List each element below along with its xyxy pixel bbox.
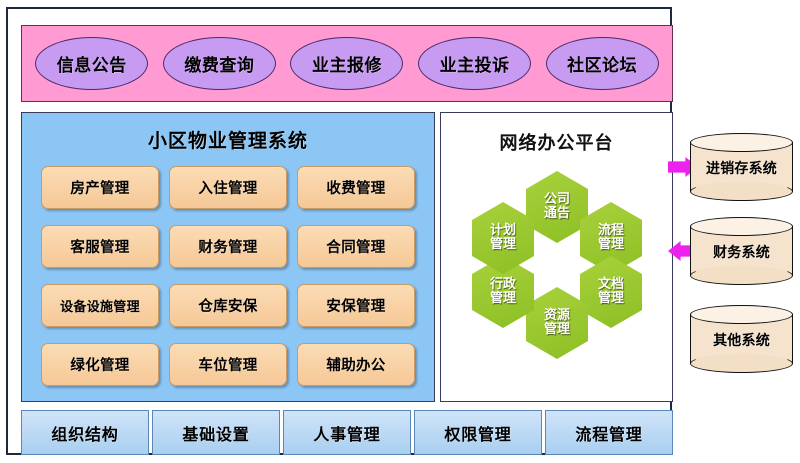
foundation-item-basic-settings[interactable]: 基础设置 (152, 410, 280, 455)
portal-item-community-forum[interactable]: 社区论坛 (546, 37, 659, 90)
external-system-finance[interactable]: 财务系统 (690, 217, 793, 285)
portal-item-label: 信息公告 (57, 51, 127, 76)
office-platform-panel: 网络办公平台 公司 通告 流程 管理 文档 管理 资 (440, 112, 673, 402)
hexagon-company-announcement[interactable]: 公司 通告 (526, 171, 588, 243)
diagram-canvas: 信息公告 缴费查询 业主报修 业主投诉 社区论坛 小区物业管理系统 房产管理 (0, 0, 800, 463)
foundation-item-permission-management[interactable]: 权限管理 (414, 410, 542, 455)
hexagon-line-1: 流程 (598, 224, 624, 238)
hexagon-plan-management[interactable]: 计划 管理 (472, 202, 534, 274)
cylinder-bottom (690, 182, 793, 201)
foundation-item-hr-management[interactable]: 人事管理 (283, 410, 411, 455)
cylinder-top (690, 133, 793, 152)
module-button-equipment-facility[interactable]: 设备设施管理 (41, 284, 159, 327)
external-system-inventory[interactable]: 进销存系统 (690, 133, 793, 201)
module-button-property-assets[interactable]: 房产管理 (41, 166, 159, 209)
module-button-move-in[interactable]: 入住管理 (169, 166, 287, 209)
cylinder-top (690, 305, 793, 324)
hexagon-line-1: 公司 (544, 193, 570, 207)
module-button-customer-service[interactable]: 客服管理 (41, 225, 159, 268)
module-button-contract[interactable]: 合同管理 (297, 225, 415, 268)
hexagon-line-2: 管理 (490, 238, 516, 252)
portal-item-label: 缴费查询 (184, 51, 254, 76)
external-system-label: 其他系统 (690, 327, 793, 353)
hexagon-line-1: 计划 (490, 224, 516, 238)
module-button-parking-space[interactable]: 车位管理 (169, 343, 287, 386)
hexagon-line-2: 通告 (544, 207, 570, 221)
hexagon-cluster: 公司 通告 流程 管理 文档 管理 资源 管理 (441, 159, 674, 377)
external-system-other[interactable]: 其他系统 (690, 305, 793, 373)
module-button-security[interactable]: 安保管理 (297, 284, 415, 327)
portal-item-payment-query[interactable]: 缴费查询 (163, 37, 276, 90)
hexagon-line-1: 资源 (544, 309, 570, 323)
cylinder-top (690, 217, 793, 236)
property-management-panel: 小区物业管理系统 房产管理 入住管理 收费管理 客服管理 财务管理 合同管理 设… (21, 112, 435, 402)
hexagon-line-2: 管理 (544, 323, 570, 337)
hexagon-line-2: 管理 (598, 238, 624, 252)
hexagon-document-management[interactable]: 文档 管理 (580, 256, 642, 328)
hexagon-line-2: 管理 (490, 292, 516, 306)
foundation-item-organization-structure[interactable]: 组织结构 (21, 410, 149, 455)
foundation-bar: 组织结构 基础设置 人事管理 权限管理 流程管理 (21, 410, 673, 455)
module-button-greening[interactable]: 绿化管理 (41, 343, 159, 386)
module-button-warehouse-security[interactable]: 仓库安保 (169, 284, 287, 327)
foundation-item-process-management[interactable]: 流程管理 (545, 410, 673, 455)
cylinder-bottom (690, 266, 793, 285)
external-systems-column: 进销存系统 财务系统 其他系统 (690, 0, 800, 463)
portal-item-label: 业主投诉 (440, 51, 510, 76)
external-system-label: 进销存系统 (690, 155, 793, 181)
portal-item-information-bulletin[interactable]: 信息公告 (35, 37, 148, 90)
module-button-fee-collection[interactable]: 收费管理 (297, 166, 415, 209)
hexagon-line-1: 行政 (490, 278, 516, 292)
hexagon-resource-management[interactable]: 资源 管理 (526, 287, 588, 359)
middle-row: 小区物业管理系统 房产管理 入住管理 收费管理 客服管理 财务管理 合同管理 设… (21, 112, 673, 402)
hexagon-line-1: 文档 (598, 278, 624, 292)
cylinder-bottom (690, 354, 793, 373)
hexagon-line-2: 管理 (598, 292, 624, 306)
portal-item-label: 社区论坛 (567, 51, 637, 76)
portal-banner: 信息公告 缴费查询 业主报修 业主投诉 社区论坛 (21, 25, 673, 102)
module-button-finance[interactable]: 财务管理 (169, 225, 287, 268)
property-panel-title: 小区物业管理系统 (22, 126, 434, 153)
portal-item-owner-repair-request[interactable]: 业主报修 (290, 37, 403, 90)
system-frame: 信息公告 缴费查询 业主报修 业主投诉 社区论坛 小区物业管理系统 房产管理 (6, 7, 672, 455)
property-module-grid: 房产管理 入住管理 收费管理 客服管理 财务管理 合同管理 设备设施管理 仓库安… (22, 166, 434, 386)
external-system-label: 财务系统 (690, 239, 793, 265)
portal-item-label: 业主报修 (312, 51, 382, 76)
module-button-auxiliary-office[interactable]: 辅助办公 (297, 343, 415, 386)
portal-item-owner-complaint[interactable]: 业主投诉 (418, 37, 531, 90)
office-panel-title: 网络办公平台 (441, 129, 672, 155)
